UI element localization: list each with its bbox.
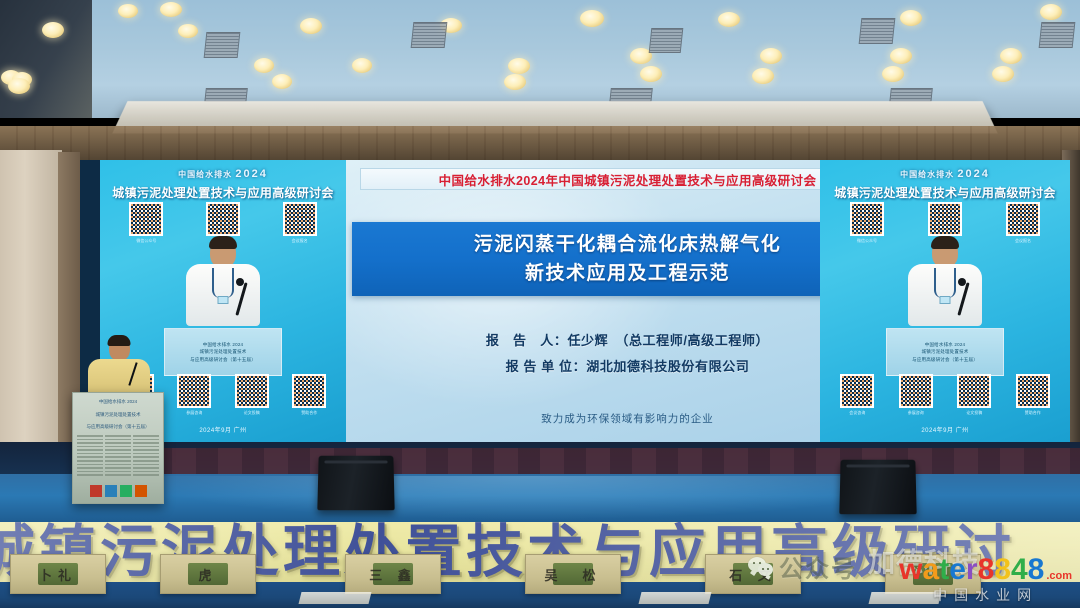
qr-item: 赞助合作 <box>292 374 326 416</box>
wm-letter: t <box>939 553 949 586</box>
qr-item: 会议报名 <box>1006 202 1040 244</box>
figure-lanyard <box>212 268 234 298</box>
qr-code-icon <box>840 374 874 408</box>
ceiling-light <box>352 58 372 73</box>
qr-code-icon <box>957 374 991 408</box>
ceiling-light <box>42 22 64 38</box>
qr-item: 论文投稿 <box>235 374 269 416</box>
panel-date-right: 2024年9月 广州 <box>820 425 1070 434</box>
ceiling-air-vent <box>411 22 448 48</box>
lectern: 中国给水排水 2024 城镇污泥处理处置技术 与应用高级研讨会（第十五届） <box>72 392 164 504</box>
panel-speaker-figure-right <box>906 238 984 334</box>
ceiling-air-vent <box>1039 22 1076 48</box>
podium-sign-line-1: 中国给水排水 2024 <box>203 341 243 349</box>
placard-name: 虎 <box>198 565 217 584</box>
speaker-head <box>109 336 130 361</box>
name-placard: 吴 松 <box>525 554 621 594</box>
stage-monitor-speaker <box>839 460 916 514</box>
wm-letter: r <box>966 553 978 586</box>
placard-name: 吴 松 <box>544 565 601 584</box>
table-paper <box>299 592 372 604</box>
lectern-column <box>105 435 131 478</box>
qr-item: 参展咨询 <box>899 374 933 416</box>
qr-caption: 赞助合作 <box>1025 410 1041 416</box>
figure-badge <box>218 296 229 304</box>
ceiling-light <box>8 78 30 94</box>
speaker-person <box>86 336 152 396</box>
ceiling-light <box>1000 48 1022 64</box>
qr-item: 会议咨询 <box>840 374 874 416</box>
ceiling-light <box>890 48 912 64</box>
lectern-sign-line-1: 中国给水排水 2024 <box>73 398 163 406</box>
wm-letter: 8 <box>1028 553 1045 586</box>
site-watermark: water8848.com 中国水业网 <box>899 555 1072 602</box>
qr-code-icon <box>235 374 269 408</box>
watermark-subtitle: 中国水业网 <box>899 588 1072 602</box>
placard-name: 三 鑫 <box>369 565 417 584</box>
name-placard: 三 鑫 <box>345 554 441 594</box>
placard-name: 卜礼 <box>39 565 77 584</box>
watermark-domain: .com <box>1046 570 1072 582</box>
panel-title-left: 城镇污泥处理处置技术与应用高级研讨会 <box>100 184 346 201</box>
watermark-wordmark: water8848.com <box>899 555 1072 585</box>
panel-logo-brand-left: 中国给水排水 <box>178 170 232 179</box>
qr-caption: 论文投稿 <box>966 410 982 416</box>
ceiling-air-vent <box>859 18 896 44</box>
panel-title-right: 城镇污泥处理处置技术与应用高级研讨会 <box>820 184 1070 201</box>
wm-letter: 8 <box>978 553 995 586</box>
panel-logo-year-right: 2024 <box>957 168 989 180</box>
ceiling-light <box>718 12 740 27</box>
qr-code-icon <box>1006 202 1040 236</box>
ceiling-dark-corner <box>0 0 92 118</box>
ceiling-light <box>508 58 530 74</box>
qr-item: 论文投稿 <box>957 374 991 416</box>
speaker-hair <box>108 335 131 346</box>
slide-speaker-line: 报 告 人：任少辉 （总工程师/高级工程师） <box>486 328 769 354</box>
qr-caption: 会议报名 <box>1015 238 1031 244</box>
wm-letter: e <box>949 553 966 586</box>
slide-header-bar: 中国给水排水2024年中国城镇污泥处理处置技术与应用高级研讨会 <box>360 168 895 190</box>
ceiling-light <box>254 58 274 73</box>
slide-header-text: 中国给水排水2024年中国城镇污泥处理处置技术与应用高级研讨会 <box>439 170 817 189</box>
qr-row-bottom-right: 会议咨询 参展咨询 论文投稿 赞助合作 <box>820 374 1070 416</box>
ceiling-light <box>504 74 526 90</box>
qr-caption: 参展咨询 <box>908 410 924 416</box>
wm-letter: 8 <box>994 553 1011 586</box>
qr-code-icon <box>292 374 326 408</box>
panel-logo-brand-right: 中国给水排水 <box>900 170 954 179</box>
slide-title-line-2: 新技术应用及工程示范 <box>525 259 730 288</box>
wm-letter: 4 <box>1011 553 1028 586</box>
side-panel-right: 中国给水排水 2024 城镇污泥处理处置技术与应用高级研讨会 微信公众号 官方网… <box>820 160 1070 442</box>
podium-sign-line-1: 中国给水排水 2024 <box>925 341 965 349</box>
led-video-wall: 中国给水排水 2024 城镇污泥处理处置技术与应用高级研讨会 微信公众号 官方网… <box>80 160 1070 442</box>
figure-hair <box>931 236 959 249</box>
podium-sign-line-3: 与应用高级研讨会（第十五届） <box>190 356 256 364</box>
ceiling-light <box>882 66 904 82</box>
qr-caption: 微信公众号 <box>136 238 156 244</box>
podium-sign-line-2: 城镇污泥处理处置技术 <box>200 348 247 356</box>
lectern-qr-icons <box>73 485 163 497</box>
qr-caption: 会议咨询 <box>849 410 865 416</box>
lectern-program-columns <box>73 431 163 478</box>
ceiling-light <box>580 10 604 27</box>
qr-code-icon <box>1016 374 1050 408</box>
wall-pillar-left <box>0 150 62 480</box>
wechat-label: 公众号 <box>779 549 857 584</box>
ceiling-light <box>118 4 138 18</box>
stage-monitor-speaker <box>317 456 394 510</box>
qr-code-icon <box>283 202 317 236</box>
figure-lanyard <box>934 268 956 298</box>
ceiling-air-vent <box>204 32 241 58</box>
qr-code-icon <box>206 202 240 236</box>
ceiling-light <box>178 24 198 38</box>
qr-item: 参展咨询 <box>177 374 211 416</box>
ceiling-light <box>272 74 292 89</box>
wm-letter: a <box>923 553 940 586</box>
qr-item: 赞助合作 <box>1016 374 1050 416</box>
wechat-icon <box>748 557 774 577</box>
table-paper <box>639 592 712 604</box>
lectern-column <box>133 435 159 478</box>
qr-code-icon <box>135 485 147 497</box>
podium-sign-line-3: 与应用高级研讨会（第十五届） <box>912 356 978 364</box>
stage-floor-light <box>120 476 940 520</box>
qr-item: 会议报名 <box>283 202 317 244</box>
panel-speaker-figure-left <box>184 238 262 334</box>
qr-code-icon <box>120 485 132 497</box>
name-placard: 卜礼 <box>10 554 106 594</box>
panel-podium-left: 中国给水排水 2024 城镇污泥处理处置技术 与应用高级研讨会（第十五届） <box>164 328 282 376</box>
ceiling-air-vent <box>649 28 684 53</box>
qr-code-icon <box>105 485 117 497</box>
lectern-sign-line-2: 城镇污泥处理处置技术 <box>73 411 163 419</box>
qr-caption: 参展咨询 <box>186 410 202 416</box>
ceiling-light <box>900 10 922 26</box>
ceiling-light <box>640 66 662 82</box>
panel-logo-year-left: 2024 <box>235 168 267 180</box>
ceiling-light <box>300 18 322 34</box>
slide-org-line: 报 告 单 位：湖北加德科技股份有限公司 <box>506 354 750 380</box>
podium-sign-line-2: 城镇污泥处理处置技术 <box>922 348 969 356</box>
qr-code-icon <box>90 485 102 497</box>
qr-code-icon <box>899 374 933 408</box>
ceiling-light <box>160 2 182 17</box>
qr-code-icon <box>177 374 211 408</box>
figure-hair <box>209 236 237 249</box>
panel-logo-left: 中国给水排水 2024 <box>100 168 346 180</box>
lectern-sign-line-3: 与应用高级研讨会（第十五届） <box>73 423 163 431</box>
panel-podium-right: 中国给水排水 2024 城镇污泥处理处置技术 与应用高级研讨会（第十五届） <box>886 328 1004 376</box>
ceiling-light <box>992 66 1014 82</box>
ceiling-light <box>752 68 774 84</box>
qr-caption: 论文投稿 <box>244 410 260 416</box>
qr-code-icon <box>928 202 962 236</box>
ceiling-light <box>760 48 782 64</box>
conference-photo: 中国给水排水 2024 城镇污泥处理处置技术与应用高级研讨会 微信公众号 官方网… <box>0 0 1080 608</box>
stage-curtain <box>150 448 1080 474</box>
qr-caption: 微信公众号 <box>857 238 877 244</box>
name-placard: 虎 <box>160 554 256 594</box>
qr-caption: 赞助合作 <box>301 410 317 416</box>
qr-item: 微信公众号 <box>129 202 163 244</box>
lectern-column <box>77 435 103 478</box>
ceiling-light <box>1040 4 1062 20</box>
qr-code-icon <box>850 202 884 236</box>
qr-caption: 会议报名 <box>292 238 308 244</box>
speaker-body <box>88 359 150 395</box>
figure-badge <box>940 296 951 304</box>
wm-letter: w <box>899 553 922 586</box>
qr-code-icon <box>129 202 163 236</box>
slide-title-line-1: 污泥闪蒸干化耦合流化床热解气化 <box>474 230 782 259</box>
wechat-watermark: 公众号 <box>748 549 857 584</box>
panel-logo-right: 中国给水排水 2024 <box>820 168 1070 180</box>
qr-item: 微信公众号 <box>850 202 884 244</box>
